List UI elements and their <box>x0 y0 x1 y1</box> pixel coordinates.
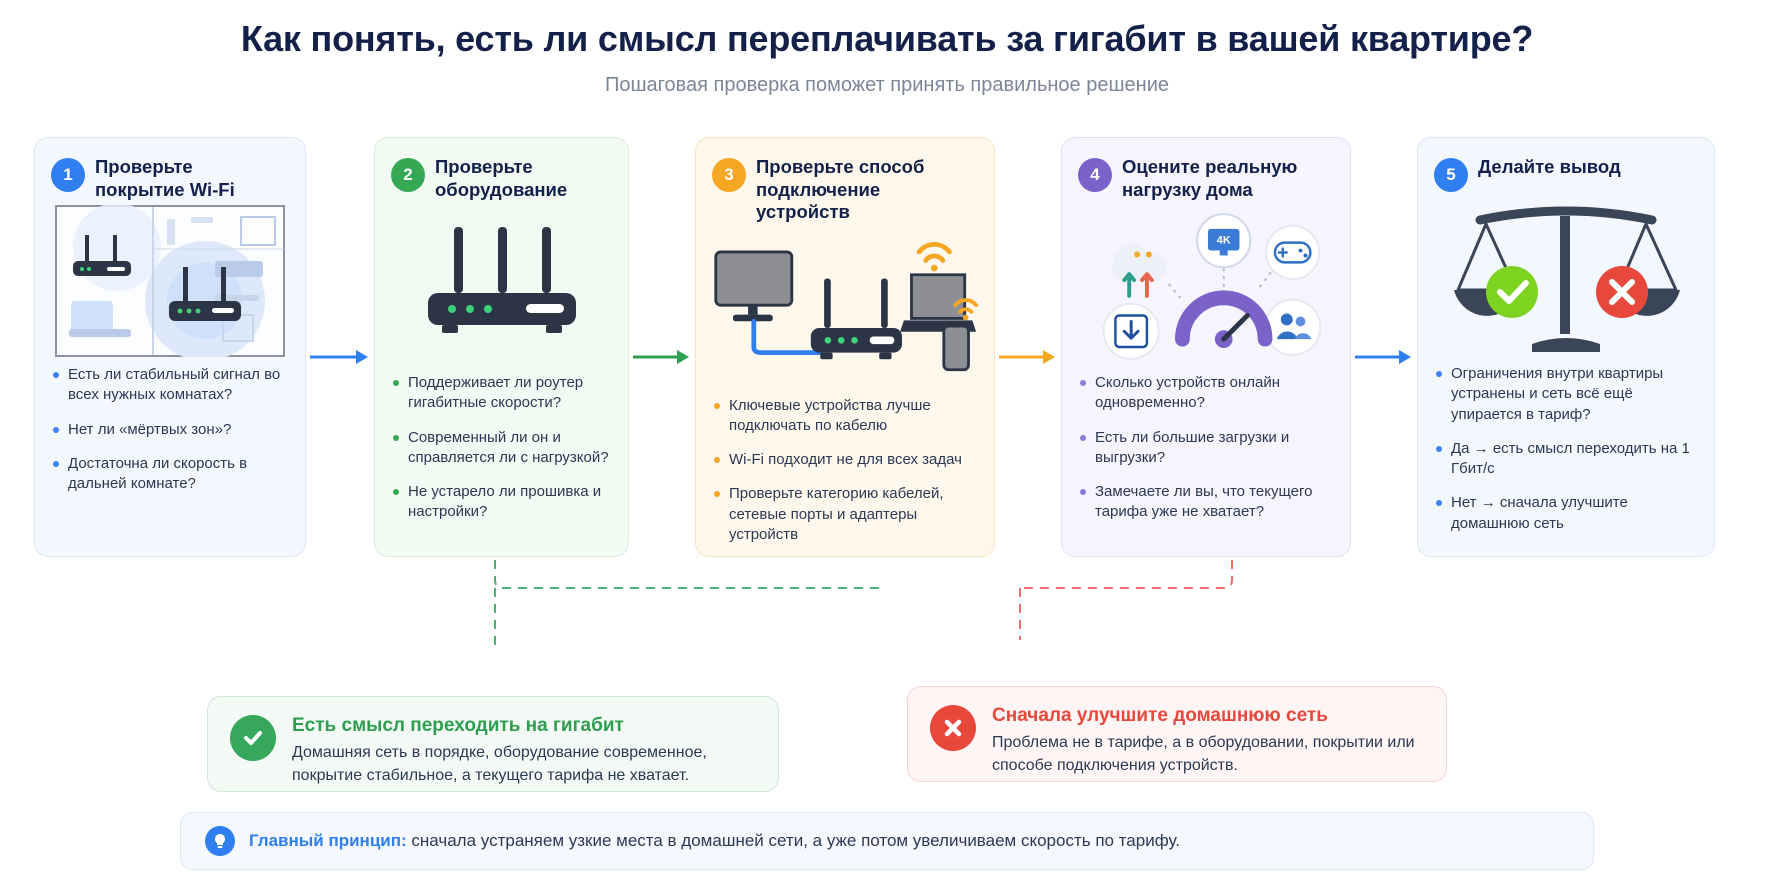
step-3-bullets: Ключевые устройства лучше подключать по … <box>712 396 978 560</box>
step-5-bullets: Ограничения внутри квартиры устранены и … <box>1434 364 1698 548</box>
step-3-badge: 3 <box>712 158 746 192</box>
step-1-bullets: Есть ли стабильный сигнал во всех нужных… <box>51 365 289 508</box>
connector-lines <box>0 540 1774 720</box>
cross-circle-icon <box>930 705 976 751</box>
list-item: Нет → сначала улучшите домашнюю сеть <box>1434 493 1698 534</box>
list-item: Ограничения внутри квартиры устранены и … <box>1434 364 1698 425</box>
list-item: Да → есть смысл переходить на 1 Гбит/с <box>1434 439 1698 480</box>
arrow-2-to-3 <box>629 345 695 369</box>
infographic-page: Как понять, есть ли смысл переплачивать … <box>0 0 1774 887</box>
arrow-1-to-2 <box>306 345 374 369</box>
list-item: Современный ли он и справляется ли с наг… <box>391 428 612 469</box>
arrow-3-to-4 <box>995 345 1061 369</box>
step-card-4[interactable]: 4 Оцените реальнуюнагрузку дома 4K <box>1061 137 1351 557</box>
list-item: Замечаете ли вы, что текущего тарифа уже… <box>1078 482 1334 523</box>
result-danger-body: Проблема не в тарифе, а в оборудовании, … <box>992 731 1424 777</box>
footer-principle-bar[interactable]: Главный принцип: сначала устраняем узкие… <box>180 812 1594 870</box>
step-1-title: Проверьтепокрытие Wi-Fi <box>95 156 235 201</box>
result-success-body: Домашняя сеть в порядке, оборудование со… <box>292 741 756 787</box>
list-item: Нет ли «мёртвых зон»? <box>51 420 289 440</box>
list-item: Поддерживает ли роутер гигабитные скорос… <box>391 373 612 414</box>
footer-body: сначала устраняем узкие места в домашней… <box>407 831 1180 850</box>
list-item: Не устарело ли прошивка и настройки? <box>391 482 612 523</box>
step-card-2[interactable]: 2 Проверьтеоборудование Подд <box>374 137 629 557</box>
router-icon <box>391 201 612 369</box>
step-2-title: Проверьтеоборудование <box>435 156 567 201</box>
step-4-bullets: Сколько устройств онлайн одновременно? Е… <box>1078 373 1334 537</box>
step-3-title: Проверьте способподключение устройств <box>756 156 978 224</box>
step-2-bullets: Поддерживает ли роутер гигабитные скорос… <box>391 373 612 537</box>
list-item: Wi-Fi подходит не для всех задач <box>712 450 978 470</box>
list-item: Проверьте категорию кабелей, сетевые пор… <box>712 484 978 545</box>
list-item: Сколько устройств онлайн одновременно? <box>1078 373 1334 414</box>
list-item: Ключевые устройства лучше подключать по … <box>712 396 978 437</box>
list-item: Достаточна ли скорость в дальней комнате… <box>51 454 289 495</box>
step-5-title: Делайте вывод <box>1478 156 1621 179</box>
page-title: Как понять, есть ли смысл переплачивать … <box>0 18 1774 60</box>
arrow-4-to-5 <box>1351 345 1417 369</box>
gauge-4k-label: 4K <box>1217 235 1231 247</box>
page-subtitle: Пошаговая проверка поможет принять прави… <box>0 74 1774 97</box>
step-5-badge: 5 <box>1434 158 1468 192</box>
balance-scales-icon <box>1434 192 1698 360</box>
step-card-5[interactable]: 5 Делайте вывод <box>1417 137 1715 557</box>
step-card-3[interactable]: 3 Проверьте способподключение устройств <box>695 137 995 557</box>
steps-row: 1 Проверьтепокрытие Wi-Fi <box>34 137 1740 557</box>
step-1-badge: 1 <box>51 158 85 192</box>
result-success-title: Есть смысл переходить на гигабит <box>292 715 756 737</box>
footer-text: Главный принцип: сначала устраняем узкие… <box>249 831 1180 851</box>
header: Как понять, есть ли смысл переплачивать … <box>0 0 1774 97</box>
step-card-1[interactable]: 1 Проверьтепокрытие Wi-Fi <box>34 137 306 557</box>
step-1-header: 1 Проверьтепокрытие Wi-Fi <box>51 156 289 201</box>
check-circle-icon <box>230 715 276 761</box>
footer-lead: Главный принцип: <box>249 831 407 850</box>
step-4-header: 4 Оцените реальнуюнагрузку дома <box>1078 156 1334 201</box>
step-2-header: 2 Проверьтеоборудование <box>391 156 612 201</box>
step-3-header: 3 Проверьте способподключение устройств <box>712 156 978 224</box>
step-5-header: 5 Делайте вывод <box>1434 156 1698 192</box>
speed-gauge-load-icon: 4K <box>1078 201 1334 369</box>
result-panel-success[interactable]: Есть смысл переходить на гигабит Домашня… <box>207 696 779 792</box>
list-item: Есть ли стабильный сигнал во всех нужных… <box>51 365 289 406</box>
result-danger-title: Сначала улучшите домашнюю сеть <box>992 705 1424 727</box>
step-4-badge: 4 <box>1078 158 1112 192</box>
list-item: Есть ли большие загрузки и выгрузки? <box>1078 428 1334 469</box>
step-2-badge: 2 <box>391 158 425 192</box>
monitor-router-laptop-phone-icon <box>712 224 978 392</box>
floorplan-wifi-coverage-icon <box>51 201 289 361</box>
result-panel-danger[interactable]: Сначала улучшите домашнюю сеть Проблема … <box>907 686 1447 782</box>
lightbulb-icon <box>205 826 235 856</box>
step-4-title: Оцените реальнуюнагрузку дома <box>1122 156 1297 201</box>
